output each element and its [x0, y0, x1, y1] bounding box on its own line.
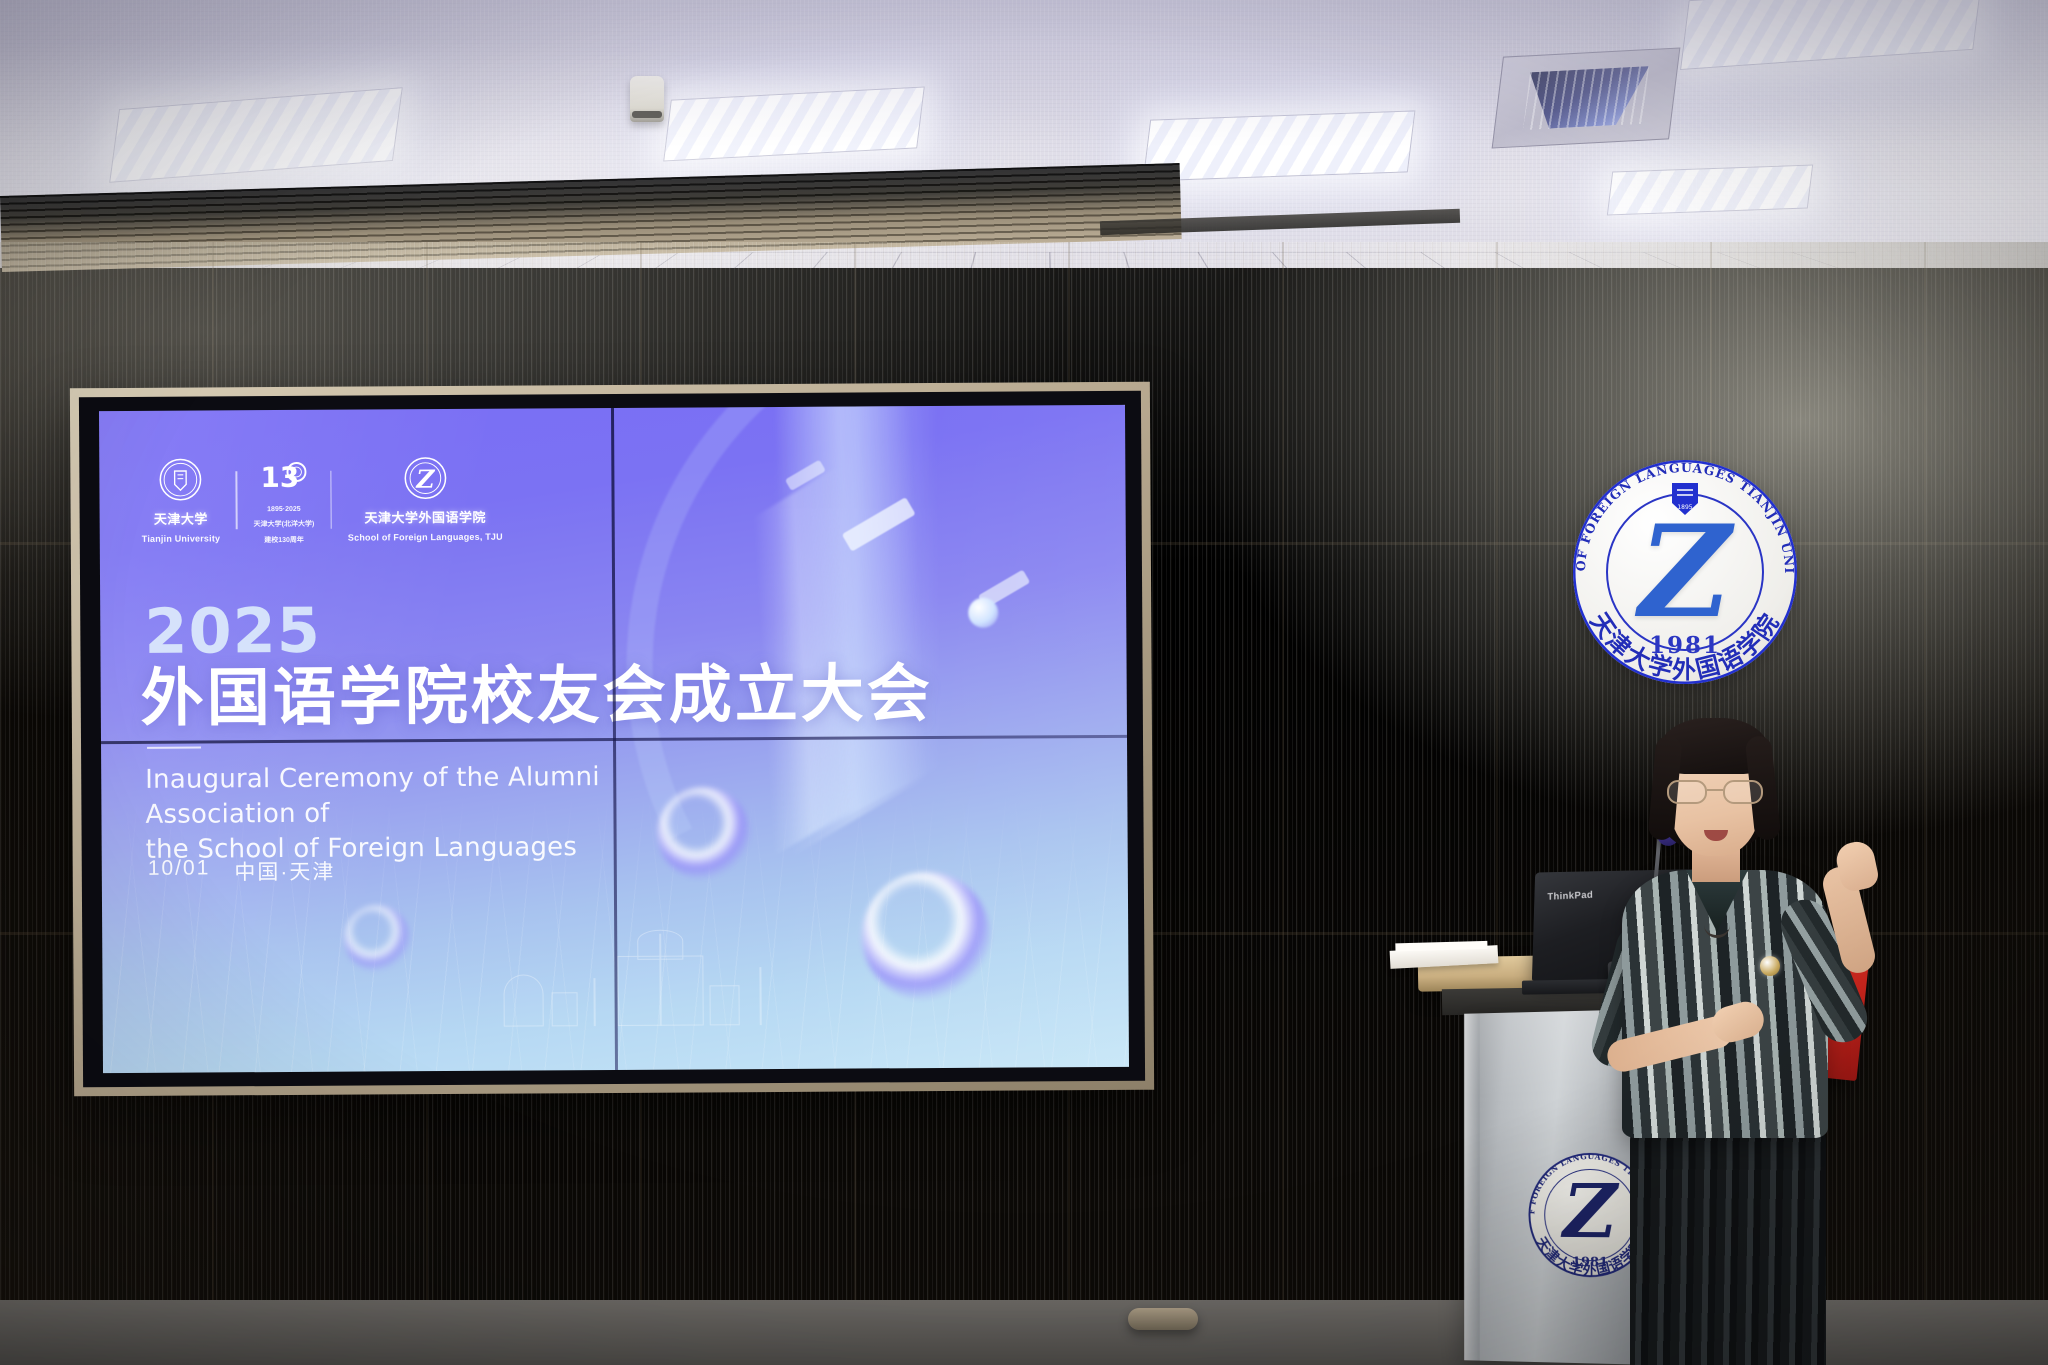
- logo-label-en: School of Foreign Languages, TJU: [348, 532, 503, 543]
- slide-logo-row: 天津大学 Tianjin University 13 1895·2025: [141, 453, 503, 546]
- emblem-monogram: Z: [1553, 509, 1817, 635]
- logo-label-cn: 天津大学外国语学院: [364, 507, 486, 527]
- school-of-foreign-languages-seal-icon: Z: [402, 455, 448, 501]
- slide-subtitle-line-1: Inaugural Ceremony of the Alumni Associa…: [145, 759, 705, 832]
- video-wall-bezel: 天津大学 Tianjin University 13 1895·2025: [79, 391, 1145, 1087]
- glasses-lens-right: [1723, 780, 1763, 804]
- speaker-skirt: [1630, 1126, 1826, 1365]
- speaker-person: [1600, 718, 1900, 1365]
- slide-location: 中国·天津: [234, 856, 335, 887]
- wall-emblem: SCHOOL OF FOREIGN LANGUAGES TIANJIN UNIV…: [1553, 440, 1817, 704]
- glasses-lens-left: [1667, 780, 1707, 804]
- speaker-glasses-icon: [1666, 780, 1764, 806]
- logo-anniversary-note: 建校130周年: [264, 535, 304, 545]
- slide-year: 2025: [144, 600, 321, 663]
- logo-anniversary-130: 13 1895·2025 天津大学(北洋大学) 建校130周年: [253, 454, 314, 545]
- laptop-brand-label: ThinkPad: [1547, 890, 1593, 903]
- logo-label-en: Tianjin University: [142, 533, 221, 543]
- logo-school-of-foreign-languages: Z 天津大学外国语学院 School of Foreign Languages,…: [347, 455, 502, 543]
- conference-room-scene: 天津大学 Tianjin University 13 1895·2025: [0, 0, 2048, 1365]
- floor-object: [1128, 1308, 1198, 1330]
- slide-subtitle-english: Inaugural Ceremony of the Alumni Associa…: [145, 759, 706, 867]
- video-wall-frame: 天津大学 Tianjin University 13 1895·2025: [70, 382, 1154, 1097]
- svg-text:Z: Z: [415, 465, 435, 494]
- slide-meta: 10/01 中国·天津: [148, 856, 336, 887]
- presentation-slide[interactable]: 天津大学 Tianjin University 13 1895·2025: [99, 405, 1129, 1073]
- slide-title-chinese: 外国语学院校友会成立大会: [141, 660, 933, 733]
- logo-anniversary-cn: 天津大学(北洋大学): [254, 519, 315, 529]
- slide-date: 10/01: [148, 856, 211, 886]
- logo-label-cn: 天津大学: [154, 508, 208, 527]
- glasses-bridge: [1707, 789, 1723, 791]
- svg-text:13: 13: [261, 461, 300, 494]
- logo-divider: [330, 470, 332, 528]
- slide-title-rule: [147, 747, 201, 749]
- tianjin-university-seal-icon: [158, 456, 204, 502]
- podium-edge-left: [1464, 1013, 1479, 1360]
- speaker-lapel-badge: [1760, 956, 1780, 976]
- logo-tianjin-university: 天津大学 Tianjin University: [141, 456, 220, 543]
- logo-anniversary-years: 1895·2025: [267, 506, 301, 513]
- anniversary-130-icon: 13: [261, 454, 307, 500]
- emblem-year: 1981: [1553, 632, 1817, 659]
- logo-divider: [236, 471, 238, 529]
